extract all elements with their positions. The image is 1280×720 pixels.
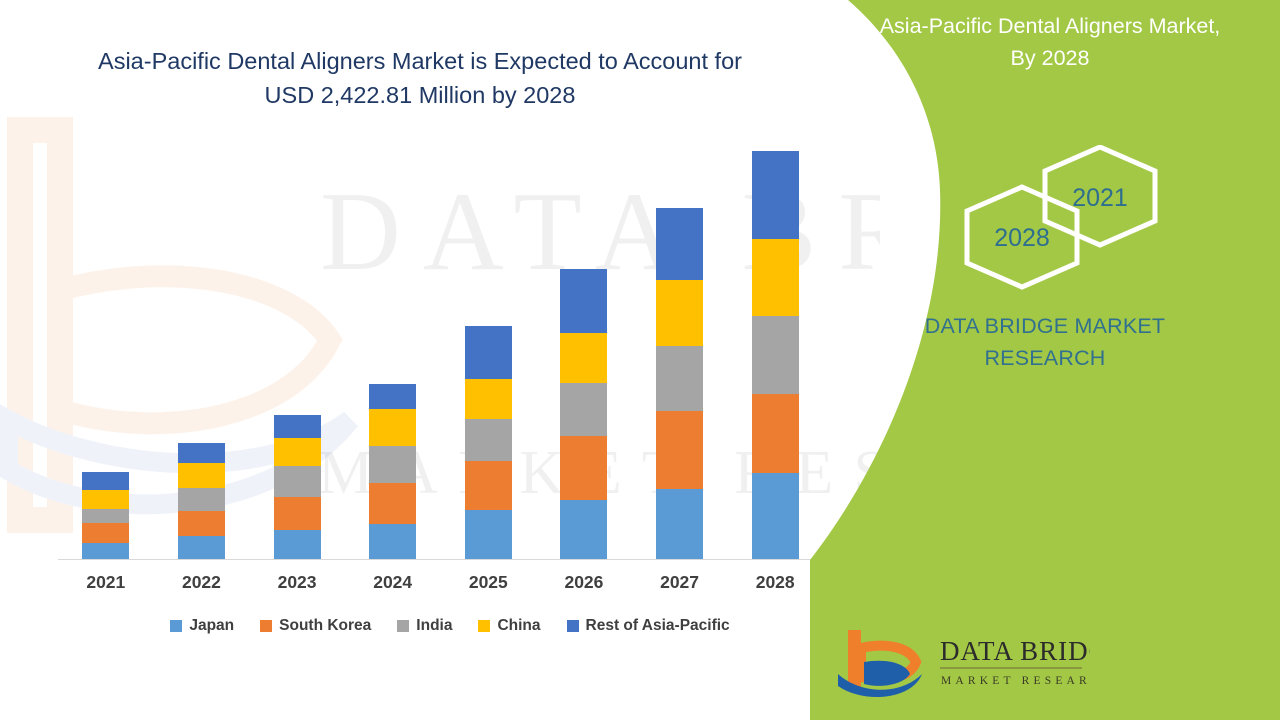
stacked-bar[interactable] xyxy=(465,326,512,559)
bar-segment xyxy=(369,524,416,559)
legend-item[interactable]: India xyxy=(397,617,452,635)
x-axis-tick-label: 2023 xyxy=(249,572,345,593)
bar-segment xyxy=(656,208,703,280)
x-axis-tick-label: 2028 xyxy=(727,572,823,593)
bar-segment xyxy=(274,466,321,497)
legend-label: Rest of Asia-Pacific xyxy=(586,617,730,635)
bar-segment xyxy=(560,333,607,383)
legend-label: China xyxy=(497,617,540,635)
bar-segment xyxy=(656,280,703,347)
bar-column xyxy=(249,151,345,559)
brand-panel: Asia-Pacific Dental Aligners Market, By … xyxy=(810,0,1280,720)
stacked-bar[interactable] xyxy=(369,384,416,559)
data-bridge-logo: DATA BRIDGE MARKET RESEARCH xyxy=(830,622,1090,704)
legend-label: India xyxy=(416,617,452,635)
bar-segment xyxy=(560,383,607,435)
bar-segment xyxy=(656,411,703,489)
x-axis-tick-label: 2027 xyxy=(632,572,728,593)
bar-segment xyxy=(752,239,799,317)
bar-column xyxy=(58,151,154,559)
bar-column xyxy=(441,151,537,559)
bar-segment xyxy=(82,523,129,543)
logo-name-text: DATA BRIDGE xyxy=(940,636,1090,666)
x-axis-tick-label: 2026 xyxy=(536,572,632,593)
bar-segment xyxy=(178,511,225,536)
page-title-line-1: Asia-Pacific Dental Aligners Market is E… xyxy=(40,44,800,78)
bar-segment xyxy=(465,419,512,461)
bar-column xyxy=(345,151,441,559)
bar-segment xyxy=(369,483,416,525)
brand-name: DATA BRIDGE MARKET RESEARCH xyxy=(845,310,1245,375)
legend-label: Japan xyxy=(189,617,234,635)
bar-segment xyxy=(465,379,512,419)
bar-segment xyxy=(560,436,607,500)
bar-segment xyxy=(752,151,799,239)
hexagon-year-badges: 2021 2028 xyxy=(950,145,1180,290)
brand-panel-title-line-1: Asia-Pacific Dental Aligners Market, xyxy=(840,10,1260,42)
bar-group xyxy=(58,151,823,559)
infographic-root: DATA BRIDGE MARKET RESEARCH Asia-Pacific… xyxy=(0,0,1280,720)
bar-segment xyxy=(752,316,799,394)
page-title: Asia-Pacific Dental Aligners Market is E… xyxy=(40,44,800,112)
bar-segment xyxy=(656,489,703,559)
x-axis-line xyxy=(58,559,823,560)
bar-segment xyxy=(178,463,225,488)
bar-segment xyxy=(656,346,703,410)
bar-segment xyxy=(369,409,416,446)
brand-panel-content: Asia-Pacific Dental Aligners Market, By … xyxy=(810,0,1280,720)
stacked-bar[interactable] xyxy=(560,269,607,559)
stacked-bar[interactable] xyxy=(274,415,321,559)
hexagon-2028-label: 2028 xyxy=(994,224,1050,252)
hexagon-2021-label: 2021 xyxy=(1072,184,1128,212)
bar-segment xyxy=(465,326,512,378)
x-axis-tick-label: 2021 xyxy=(58,572,154,593)
legend-item[interactable]: South Korea xyxy=(260,617,371,635)
legend-item[interactable]: Japan xyxy=(170,617,234,635)
x-axis-tick-label: 2024 xyxy=(345,572,441,593)
bar-segment xyxy=(82,490,129,509)
brand-panel-title-line-2: By 2028 xyxy=(840,42,1260,74)
bar-column xyxy=(632,151,728,559)
legend-swatch-icon xyxy=(397,620,409,632)
bar-segment xyxy=(82,472,129,491)
bar-segment xyxy=(465,510,512,559)
legend-label: South Korea xyxy=(279,617,371,635)
stacked-bar[interactable] xyxy=(752,151,799,559)
logo-mark-icon xyxy=(838,630,922,697)
bar-segment xyxy=(560,500,607,559)
bar-segment xyxy=(274,497,321,530)
bar-segment xyxy=(178,488,225,511)
bar-segment xyxy=(369,446,416,482)
page-title-line-2: USD 2,422.81 Million by 2028 xyxy=(40,78,800,112)
brand-panel-title: Asia-Pacific Dental Aligners Market, By … xyxy=(840,10,1260,75)
bar-segment xyxy=(560,269,607,332)
brand-name-line-2: RESEARCH xyxy=(845,342,1245,374)
legend-swatch-icon xyxy=(567,620,579,632)
bar-segment xyxy=(274,530,321,560)
stacked-bar[interactable] xyxy=(82,472,129,559)
bar-segment xyxy=(752,473,799,559)
bar-segment xyxy=(274,438,321,466)
bar-column xyxy=(154,151,250,559)
bar-segment xyxy=(178,443,225,463)
bar-segment xyxy=(178,536,225,559)
chart-panel: DATA BRIDGE MARKET RESEARCH Asia-Pacific… xyxy=(0,0,880,720)
bar-segment xyxy=(369,384,416,409)
bar-segment xyxy=(82,509,129,523)
x-axis-labels: 20212022202320242025202620272028 xyxy=(58,572,823,593)
legend-item[interactable]: China xyxy=(478,617,540,635)
bar-segment xyxy=(274,415,321,438)
stacked-bar[interactable] xyxy=(178,443,225,559)
brand-name-line-1: DATA BRIDGE MARKET xyxy=(845,310,1245,342)
bar-segment xyxy=(465,461,512,510)
legend-item[interactable]: Rest of Asia-Pacific xyxy=(567,617,730,635)
legend-swatch-icon xyxy=(260,620,272,632)
bar-column xyxy=(727,151,823,559)
legend-swatch-icon xyxy=(478,620,490,632)
plot-area xyxy=(58,150,823,560)
stacked-bar[interactable] xyxy=(656,208,703,559)
bar-segment xyxy=(752,394,799,473)
bar-column xyxy=(536,151,632,559)
x-axis-tick-label: 2022 xyxy=(154,572,250,593)
bar-segment xyxy=(82,543,129,559)
legend-swatch-icon xyxy=(170,620,182,632)
x-axis-tick-label: 2025 xyxy=(441,572,537,593)
chart-legend: JapanSouth KoreaIndiaChinaRest of Asia-P… xyxy=(70,617,830,635)
logo-tagline-text: MARKET RESEARCH xyxy=(941,675,1090,687)
